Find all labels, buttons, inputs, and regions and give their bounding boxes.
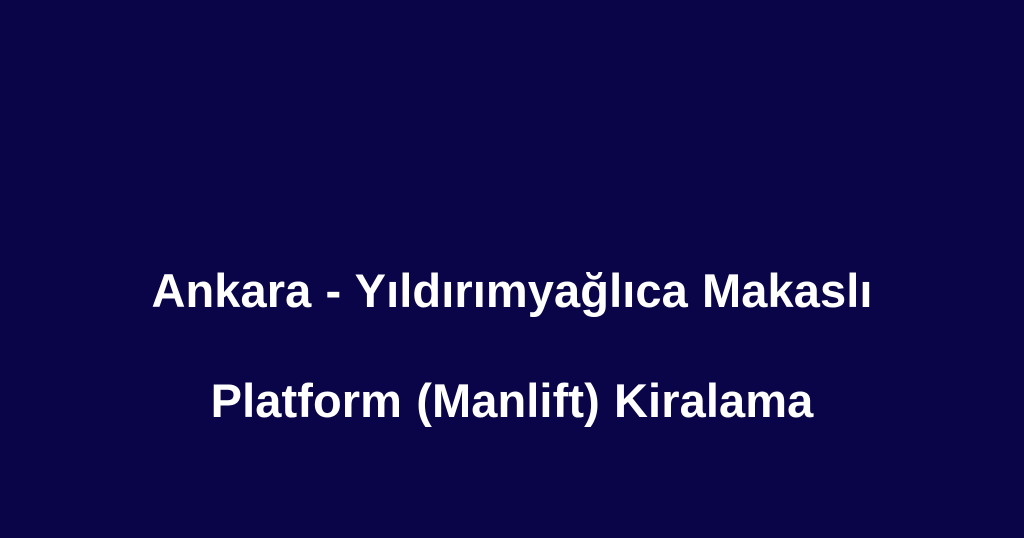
page-title: Ankara - Yıldırımyağlıca Makaslı Platfor… [48,208,976,483]
page-title-line-1: Ankara - Yıldırımyağlıca Makaslı [48,263,976,318]
title-card: Ankara - Yıldırımyağlıca Makaslı Platfor… [0,0,1024,538]
title-block: Ankara - Yıldırımyağlıca Makaslı Platfor… [0,208,1024,483]
page-title-line-2: Platform (Manlift) Kiralama [48,373,976,428]
